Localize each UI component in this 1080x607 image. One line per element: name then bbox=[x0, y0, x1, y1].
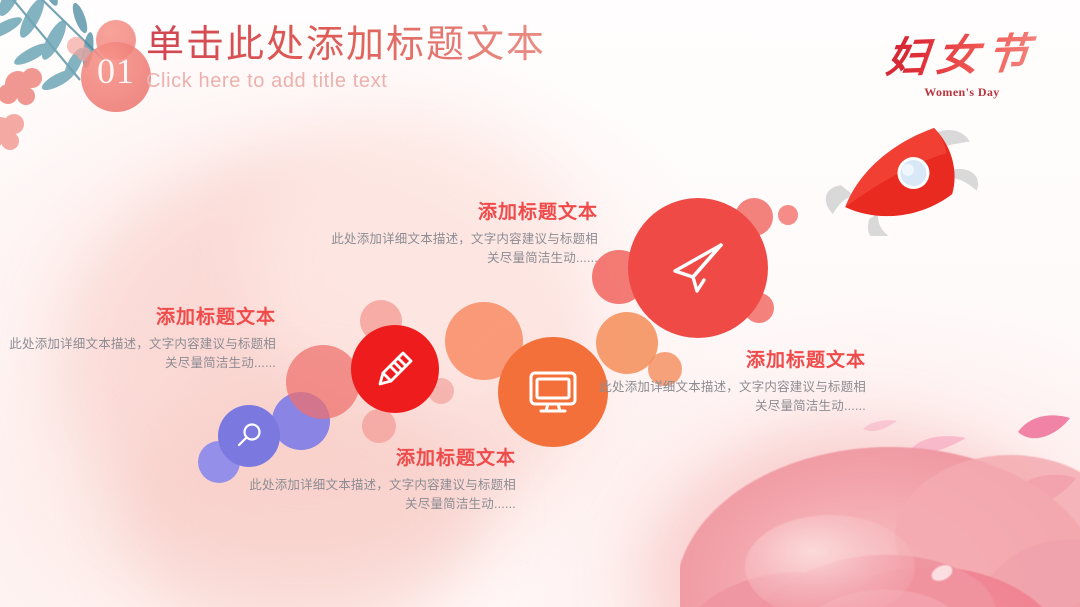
paper-plane-icon bbox=[663, 233, 733, 303]
rocket-icon bbox=[812, 128, 992, 236]
logo-text-cn: 妇女节 bbox=[868, 19, 1055, 86]
decor-dot-red-3 bbox=[778, 205, 798, 225]
page-subtitle: Click here to add title text bbox=[146, 70, 546, 93]
icon-circle-monitor[interactable] bbox=[498, 337, 608, 447]
background-blur-shape-4 bbox=[640, 430, 1070, 607]
title-group: 单击此处添加标题文本 Click here to add title text bbox=[146, 22, 546, 93]
slide-header: 01 单击此处添加标题文本 Click here to add title te… bbox=[0, 0, 1080, 130]
section-number-badge: 01 bbox=[78, 20, 154, 116]
content-block-description: 此处添加详细文本描述，文字内容建议与标题相关尽量简洁生动...... bbox=[330, 230, 598, 268]
decor-dot-pink-2 bbox=[362, 409, 396, 443]
content-block-title: 添加标题文本 bbox=[248, 446, 516, 470]
content-block-bottom: 添加标题文本 此处添加详细文本描述，文字内容建议与标题相关尽量简洁生动.....… bbox=[248, 446, 516, 514]
content-block-title: 添加标题文本 bbox=[330, 200, 598, 224]
content-block-title: 添加标题文本 bbox=[598, 348, 866, 372]
logo-text-en: Women's Day bbox=[872, 85, 1052, 100]
pencil-icon bbox=[372, 346, 418, 392]
petal-3 bbox=[908, 432, 968, 463]
page-title: 单击此处添加标题文本 bbox=[146, 22, 546, 66]
content-block-title: 添加标题文本 bbox=[8, 305, 276, 329]
content-block-description: 此处添加详细文本描述，文字内容建议与标题相关尽量简洁生动...... bbox=[8, 335, 276, 373]
womens-day-logo: 妇女节 Women's Day bbox=[872, 22, 1052, 114]
content-block-top: 添加标题文本 此处添加详细文本描述，文字内容建议与标题相关尽量简洁生动.....… bbox=[330, 200, 598, 268]
decor-dot-pink-1 bbox=[286, 345, 360, 419]
icon-circle-paper-plane[interactable] bbox=[628, 198, 768, 338]
content-block-left: 添加标题文本 此处添加详细文本描述，文字内容建议与标题相关尽量简洁生动.....… bbox=[8, 305, 276, 373]
slide-canvas: 01 单击此处添加标题文本 Click here to add title te… bbox=[0, 0, 1080, 607]
petal-2 bbox=[1008, 470, 1078, 517]
petal-1 bbox=[1016, 412, 1072, 451]
decor-dot-purple-2 bbox=[272, 392, 330, 450]
content-block-description: 此处添加详细文本描述，文字内容建议与标题相关尽量简洁生动...... bbox=[598, 378, 866, 416]
petal-4 bbox=[862, 418, 898, 439]
content-block-description: 此处添加详细文本描述，文字内容建议与标题相关尽量简洁生动...... bbox=[248, 476, 516, 514]
section-number-text: 01 bbox=[78, 50, 154, 92]
content-block-right: 添加标题文本 此处添加详细文本描述，文字内容建议与标题相关尽量简洁生动.....… bbox=[598, 348, 866, 416]
monitor-icon bbox=[524, 363, 582, 421]
icon-circle-pencil[interactable] bbox=[351, 325, 439, 413]
